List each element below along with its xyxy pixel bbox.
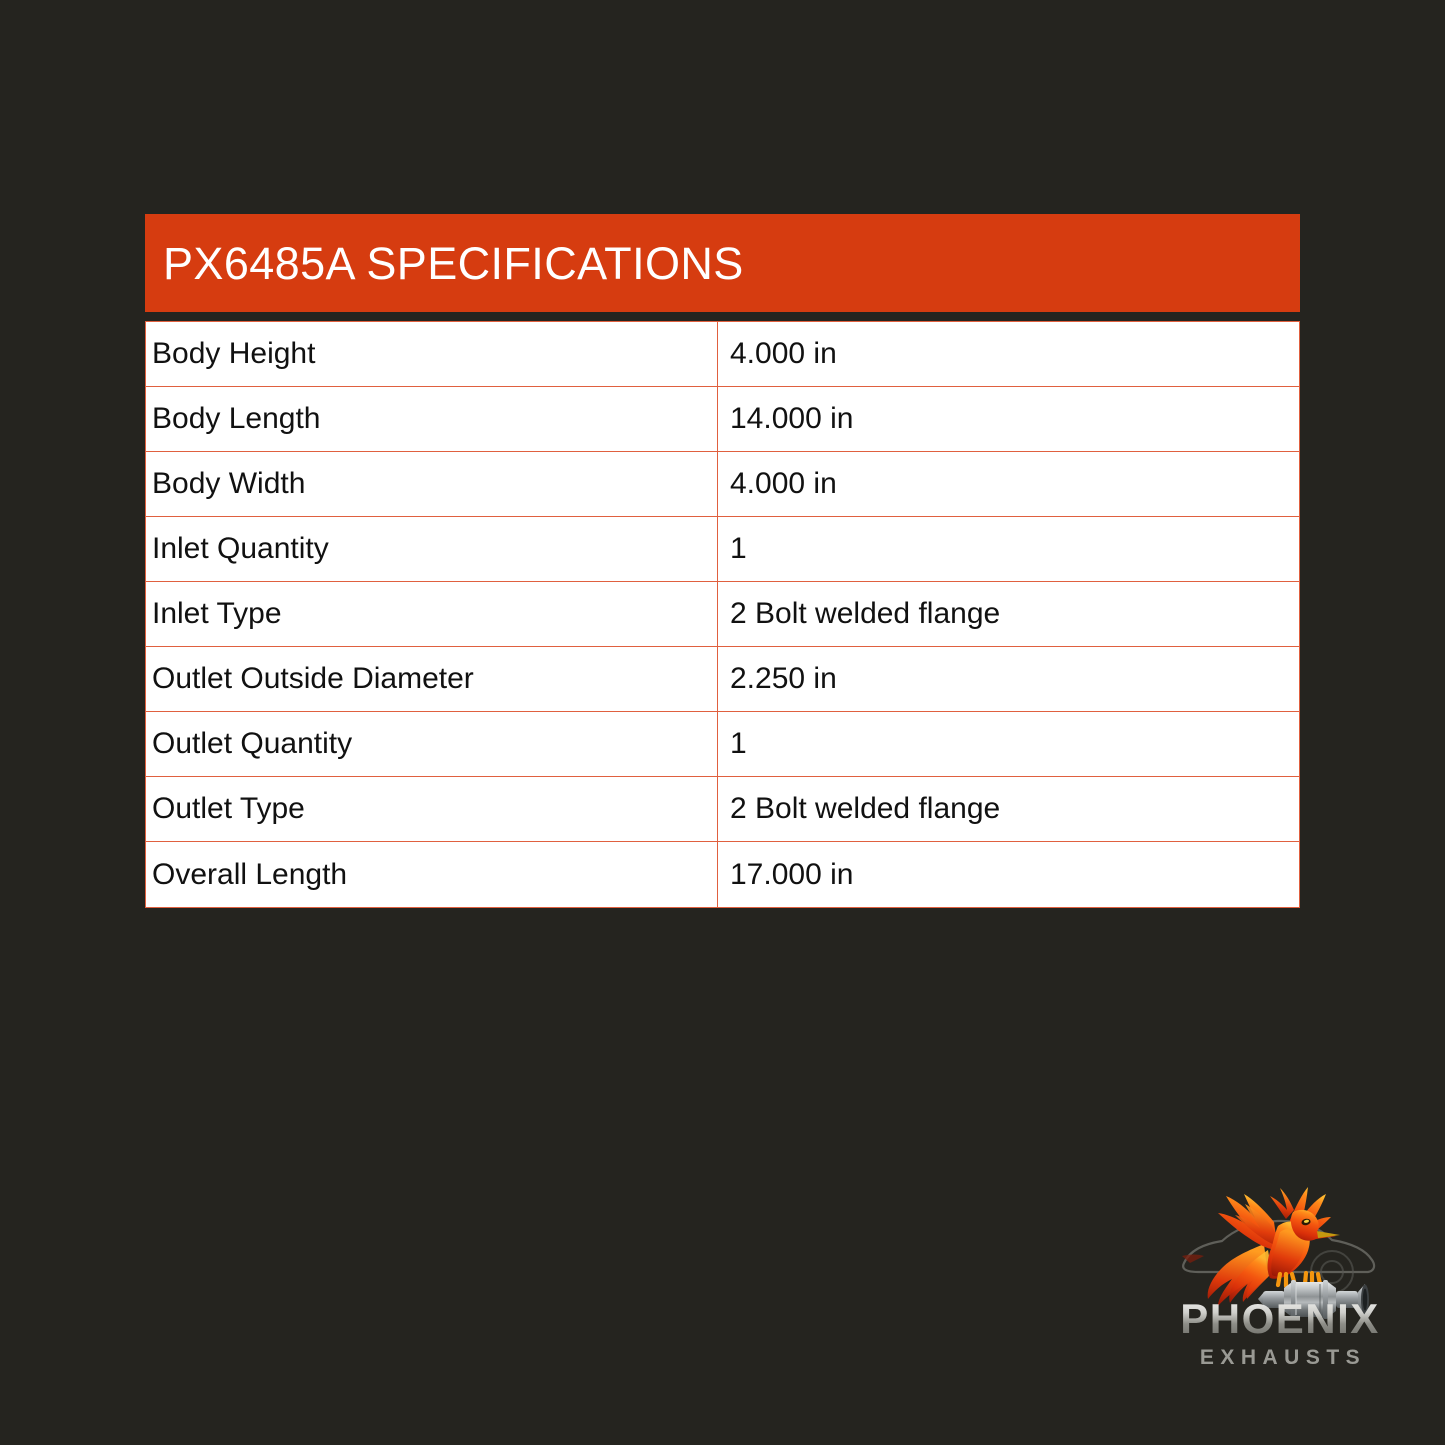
spec-label: Body Height bbox=[146, 322, 718, 386]
spec-value: 2 Bolt welded flange bbox=[718, 582, 1299, 646]
spec-label: Overall Length bbox=[146, 842, 718, 907]
table-row: Body Height 4.000 in bbox=[146, 322, 1299, 387]
spec-label: Body Length bbox=[146, 387, 718, 451]
spec-value: 1 bbox=[718, 712, 1299, 776]
brand-tagline: EXHAUSTS bbox=[1160, 1347, 1400, 1368]
brand-name: PHOENIX bbox=[1160, 1298, 1400, 1340]
spec-value: 1 bbox=[718, 517, 1299, 581]
specifications-header: PX6485A SPECIFICATIONS bbox=[145, 214, 1300, 312]
spec-value: 17.000 in bbox=[718, 842, 1299, 907]
table-row: Body Width 4.000 in bbox=[146, 452, 1299, 517]
table-row: Inlet Quantity 1 bbox=[146, 517, 1299, 582]
table-row: Outlet Quantity 1 bbox=[146, 712, 1299, 777]
brand-wordmark: PHOENIX EXHAUSTS bbox=[1160, 1298, 1400, 1368]
table-row: Outlet Outside Diameter 2.250 in bbox=[146, 647, 1299, 712]
spec-value: 4.000 in bbox=[718, 322, 1299, 386]
page-title: PX6485A SPECIFICATIONS bbox=[163, 241, 744, 286]
specifications-card: PX6485A SPECIFICATIONS Body Height 4.000… bbox=[145, 214, 1300, 908]
spec-value: 4.000 in bbox=[718, 452, 1299, 516]
brand-logo: PHOENIX EXHAUSTS bbox=[1160, 1170, 1400, 1385]
spec-label: Inlet Type bbox=[146, 582, 718, 646]
spec-label: Inlet Quantity bbox=[146, 517, 718, 581]
spec-label: Outlet Outside Diameter bbox=[146, 647, 718, 711]
table-row: Overall Length 17.000 in bbox=[146, 842, 1299, 907]
table-row: Outlet Type 2 Bolt welded flange bbox=[146, 777, 1299, 842]
table-row: Body Length 14.000 in bbox=[146, 387, 1299, 452]
spec-value: 2.250 in bbox=[718, 647, 1299, 711]
spec-value: 14.000 in bbox=[718, 387, 1299, 451]
spec-value: 2 Bolt welded flange bbox=[718, 777, 1299, 841]
table-row: Inlet Type 2 Bolt welded flange bbox=[146, 582, 1299, 647]
specifications-table: Body Height 4.000 in Body Length 14.000 … bbox=[145, 321, 1300, 908]
spec-label: Body Width bbox=[146, 452, 718, 516]
spec-label: Outlet Quantity bbox=[146, 712, 718, 776]
spec-label: Outlet Type bbox=[146, 777, 718, 841]
